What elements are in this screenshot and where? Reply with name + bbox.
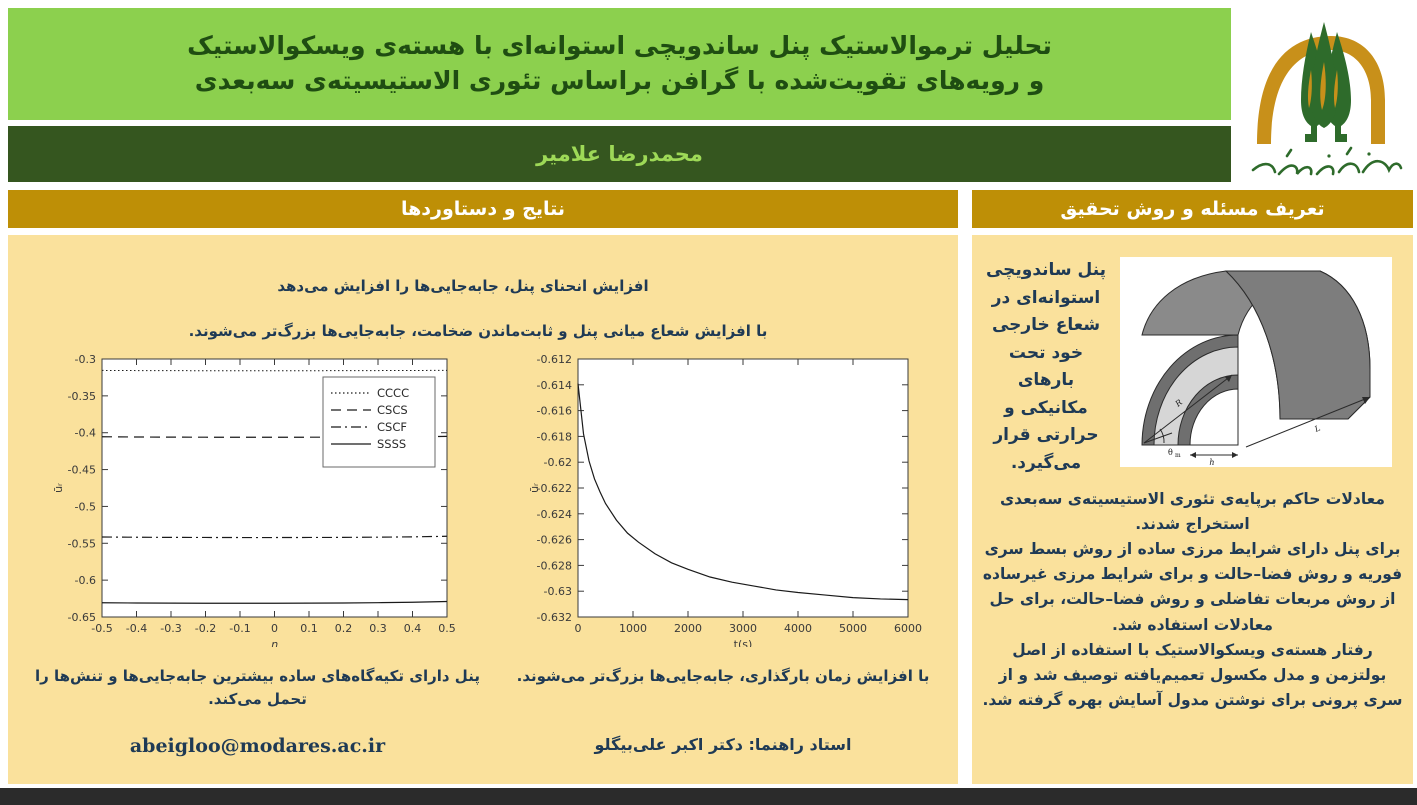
svg-text:0.3: 0.3 (369, 622, 387, 635)
panel-geometry-figure: R θ m h L (1120, 257, 1392, 467)
section-title-problem: تعریف مسئله و روش تحقیق (1060, 198, 1324, 220)
svg-text:ūᵣ: ūᵣ (528, 483, 541, 493)
svg-text:0.2: 0.2 (335, 622, 353, 635)
svg-text:-0.612: -0.612 (537, 353, 572, 366)
svg-text:m: m (1175, 452, 1181, 459)
svg-text:0.5: 0.5 (438, 622, 456, 635)
svg-text:-0.35: -0.35 (68, 390, 96, 403)
svg-text:SSSS: SSSS (377, 437, 406, 451)
poster-title-line-2: و رویه‌های تقویت‌شده با گرافن براساس تئو… (195, 67, 1045, 96)
bottom-bar (0, 788, 1417, 805)
chart-displacement-vs-eta: -0.3-0.35-0.4-0.45-0.5-0.55-0.6-0.65 -0.… (30, 347, 485, 647)
svg-text:-0.3: -0.3 (160, 622, 181, 635)
svg-text:-0.63: -0.63 (544, 585, 572, 598)
svg-text:-0.4: -0.4 (75, 427, 96, 440)
results-statement-1: افزایش انحنای پنل، جابه‌جایی‌ها را افزای… (8, 275, 958, 298)
svg-text:-0.622: -0.622 (537, 482, 572, 495)
poster-title-line-1: تحلیل ترموالاستیک پنل ساندویچی استوانه‌ا… (187, 32, 1052, 61)
svg-text:-0.626: -0.626 (537, 534, 572, 547)
author-name: محمدرضا علامیر (536, 142, 703, 166)
chart-displacement-vs-time: -0.612-0.614-0.616-0.618-0.62-0.622-0.62… (498, 347, 948, 647)
svg-text:CCCC: CCCC (377, 386, 409, 400)
contact-email[interactable]: abeigloo@modares.ac.ir (30, 735, 485, 757)
cylindrical-sandwich-panel-icon: R θ m h L (1120, 257, 1392, 467)
svg-text:-0.2: -0.2 (195, 622, 216, 635)
svg-text:-0.5: -0.5 (91, 622, 112, 635)
svg-text:0.4: 0.4 (404, 622, 422, 635)
poster-title-band: تحلیل ترموالاستیک پنل ساندویچی استوانه‌ا… (8, 8, 1231, 120)
svg-text:-0.616: -0.616 (537, 405, 572, 418)
caption-right-chart: با افزایش زمان بارگذاری، جابه‌جایی‌ها بز… (498, 665, 948, 688)
svg-text:-0.6: -0.6 (75, 574, 96, 587)
problem-side-text: پنل ساندویچی استوانه‌ای در شعاع خارجی خو… (982, 257, 1110, 477)
caption-left-chart: پنل دارای تکیه‌گاه‌های ساده بیشترین جابه… (30, 665, 485, 712)
svg-text:-0.5: -0.5 (75, 500, 96, 513)
results-panel: افزایش انحنای پنل، جابه‌جایی‌ها را افزای… (8, 235, 958, 784)
svg-text:6000: 6000 (894, 622, 922, 635)
svg-text:-0.614: -0.614 (537, 379, 572, 392)
chart-right-svg: -0.612-0.614-0.616-0.618-0.62-0.622-0.62… (498, 347, 948, 647)
author-band: محمدرضا علامیر (8, 126, 1231, 182)
chart-left-svg: -0.3-0.35-0.4-0.45-0.5-0.55-0.6-0.65 -0.… (30, 347, 485, 647)
svg-text:-0.45: -0.45 (68, 464, 96, 477)
svg-text:-0.628: -0.628 (537, 559, 572, 572)
svg-text:t(s): t(s) (734, 638, 753, 647)
svg-text:0.1: 0.1 (300, 622, 318, 635)
section-header-results: نتایج و دستاوردها (8, 190, 958, 228)
university-logo-icon (1239, 4, 1413, 184)
section-title-results: نتایج و دستاوردها (401, 198, 565, 220)
svg-text:θ: θ (1168, 448, 1173, 457)
svg-text:0: 0 (575, 622, 582, 635)
svg-text:CSCF: CSCF (377, 420, 407, 434)
poster-root: تحلیل ترموالاستیک پنل ساندویچی استوانه‌ا… (0, 0, 1417, 805)
problem-paragraph-1: معادلات حاکم برپایه‌ی تئوری الاستیسیته‌ی… (980, 487, 1405, 537)
section-header-problem: تعریف مسئله و روش تحقیق (972, 190, 1413, 228)
svg-text:5000: 5000 (839, 622, 867, 635)
svg-text:1000: 1000 (619, 622, 647, 635)
svg-text:2000: 2000 (674, 622, 702, 635)
problem-paragraph-2: برای پنل دارای شرایط مرزی ساده از روش بس… (980, 537, 1405, 637)
supervisor-label: استاد راهنما: دکتر اکبر علی‌بیگلو (498, 735, 948, 754)
problem-body-text: معادلات حاکم برپایه‌ی تئوری الاستیسیته‌ی… (980, 487, 1405, 713)
university-logo (1239, 4, 1413, 184)
svg-text:-0.4: -0.4 (126, 622, 147, 635)
svg-text:4000: 4000 (784, 622, 812, 635)
svg-text:η: η (271, 638, 278, 647)
problem-paragraph-3: رفتار هسته‌ی ویسکوالاستیک با استفاده از … (980, 638, 1405, 713)
svg-text:-0.1: -0.1 (229, 622, 250, 635)
svg-text:h: h (1209, 458, 1214, 467)
svg-text:-0.624: -0.624 (537, 508, 572, 521)
results-statement-2: با افزایش شعاع میانی پنل و ثابت‌ماندن ضخ… (8, 320, 958, 343)
svg-text:0: 0 (271, 622, 278, 635)
svg-text:CSCS: CSCS (377, 403, 408, 417)
svg-text:-0.632: -0.632 (537, 611, 572, 624)
svg-text:-0.62: -0.62 (544, 456, 572, 469)
svg-text:-0.618: -0.618 (537, 430, 572, 443)
problem-panel: پنل ساندویچی استوانه‌ای در شعاع خارجی خو… (972, 235, 1413, 784)
svg-text:ūᵣ: ūᵣ (52, 483, 65, 493)
svg-text:3000: 3000 (729, 622, 757, 635)
svg-text:-0.55: -0.55 (68, 537, 96, 550)
svg-text:-0.3: -0.3 (75, 353, 96, 366)
